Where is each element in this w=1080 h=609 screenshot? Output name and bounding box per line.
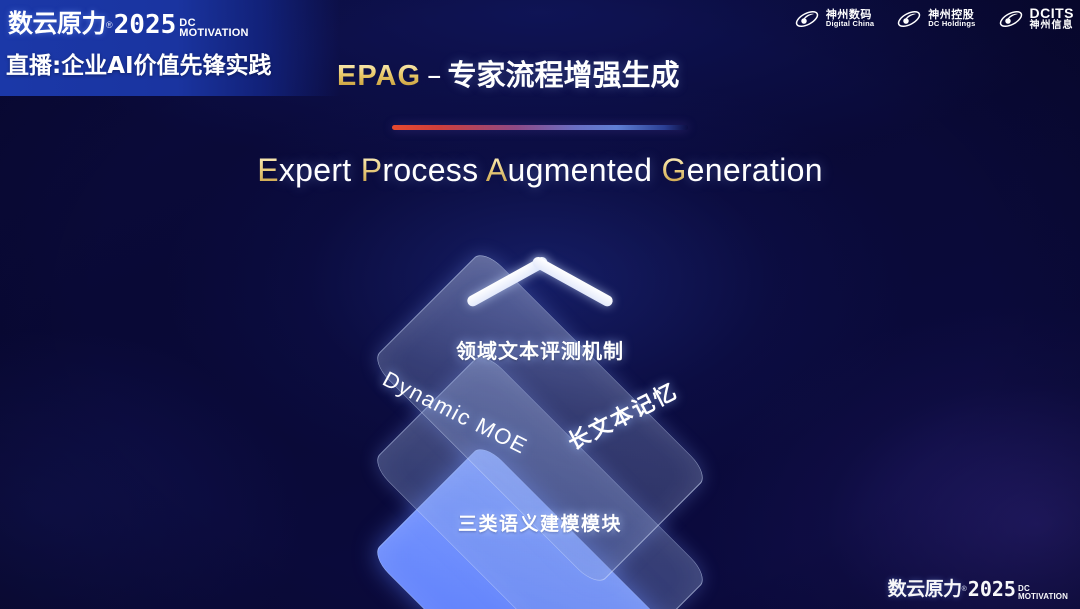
- watermark-year: 2025: [968, 577, 1016, 601]
- watermark-registered-mark: ®: [962, 586, 967, 593]
- watermark-dc-line2: MOTIVATION: [1018, 593, 1068, 600]
- watermark-dc-motivation: DC MOTIVATION: [1018, 585, 1068, 600]
- layer-label-bottom: 三类语义建模模块: [458, 509, 622, 536]
- layer-stack-diagram: 领域文本评测机制 Dynamic MOE 长文本记忆 三类语义建模模块: [0, 0, 1080, 609]
- watermark-name-cn: 数云原力: [888, 574, 962, 601]
- layer-label-top: 领域文本评测机制: [456, 335, 624, 364]
- footer-watermark: 数云原力 ® 2025 DC MOTIVATION: [888, 574, 1068, 601]
- chevron-right-bar: [531, 255, 615, 308]
- slide-canvas: 数云原力 ® 2025 DC MOTIVATION 直播:企业AI价值先锋实践 …: [0, 0, 1080, 609]
- chevron-up-icon: [472, 281, 608, 325]
